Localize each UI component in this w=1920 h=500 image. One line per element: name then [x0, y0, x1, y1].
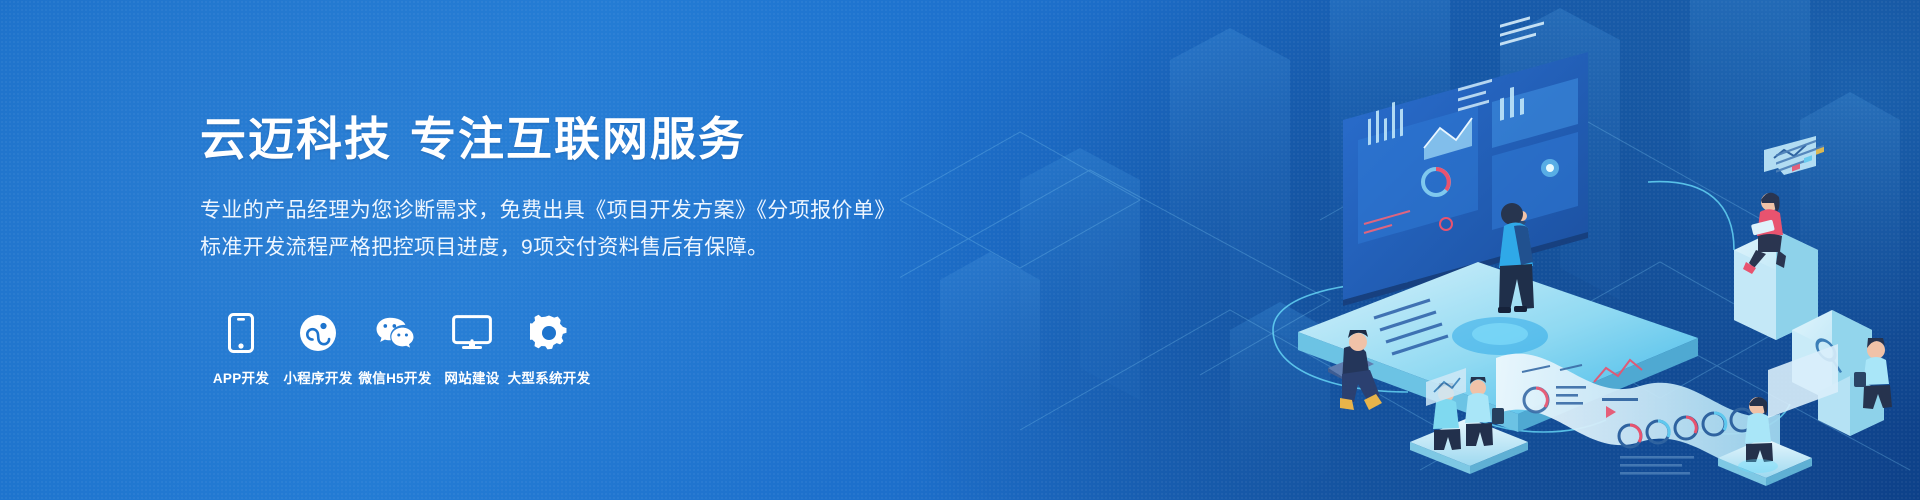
subtitle-line-2: 标准开发流程严格把控项目进度，9项交付资料售后有保障。	[200, 229, 960, 266]
person-pair-on-tile	[1410, 377, 1528, 474]
banner-content: 云迈科技专注互联网服务 专业的产品经理为您诊断需求，免费出具《项目开发方案》《分…	[200, 0, 960, 500]
service-label: 微信H5开发	[358, 367, 431, 387]
person-standing-on-tile	[1718, 397, 1812, 486]
service-item-website[interactable]: 网站建设	[435, 313, 509, 387]
headline-brand: 云迈科技	[200, 113, 392, 165]
service-label: 小程序开发	[284, 367, 353, 387]
service-item-wechat-h5[interactable]: 微信H5开发	[358, 313, 432, 387]
floating-text-panel	[1768, 140, 1838, 418]
service-label: 大型系统开发	[508, 367, 591, 387]
mobile-phone-icon	[221, 313, 261, 353]
person-walking	[1818, 338, 1892, 436]
cube-with-search-icon	[1792, 310, 1872, 402]
monitor-icon	[452, 313, 492, 353]
headline-tagline: 专注互联网服务	[410, 113, 746, 165]
floating-mini-panel	[1426, 368, 1466, 406]
gear-icon	[529, 313, 569, 353]
service-item-app[interactable]: APP开发	[204, 313, 278, 387]
person-pointing	[1498, 203, 1534, 313]
woman-on-pedestal	[1734, 136, 1818, 340]
background-isometric-shapes	[900, 0, 1920, 500]
service-item-mini-program[interactable]: 小程序开发	[281, 313, 355, 387]
person-with-laptop	[1328, 330, 1382, 410]
wechat-icon	[375, 313, 415, 353]
service-list: APP开发 小程序开发	[200, 313, 960, 387]
tablet-platform	[1298, 262, 1698, 432]
mini-program-icon	[298, 313, 338, 353]
hero-illustration	[1178, 0, 1898, 500]
hero-banner: 云迈科技专注互联网服务 专业的产品经理为您诊断需求，免费出具《项目开发方案》《分…	[0, 0, 1920, 500]
flowing-data-sheet	[1496, 354, 1780, 475]
dashboard-screen	[1343, 16, 1588, 306]
subtitle-line-1: 专业的产品经理为您诊断需求，免费出具《项目开发方案》《分项报价单》	[200, 192, 960, 229]
service-label: APP开发	[213, 367, 269, 387]
service-item-large-system[interactable]: 大型系统开发	[512, 313, 586, 387]
service-label: 网站建设	[444, 367, 499, 387]
page-title: 云迈科技专注互联网服务	[200, 113, 960, 166]
